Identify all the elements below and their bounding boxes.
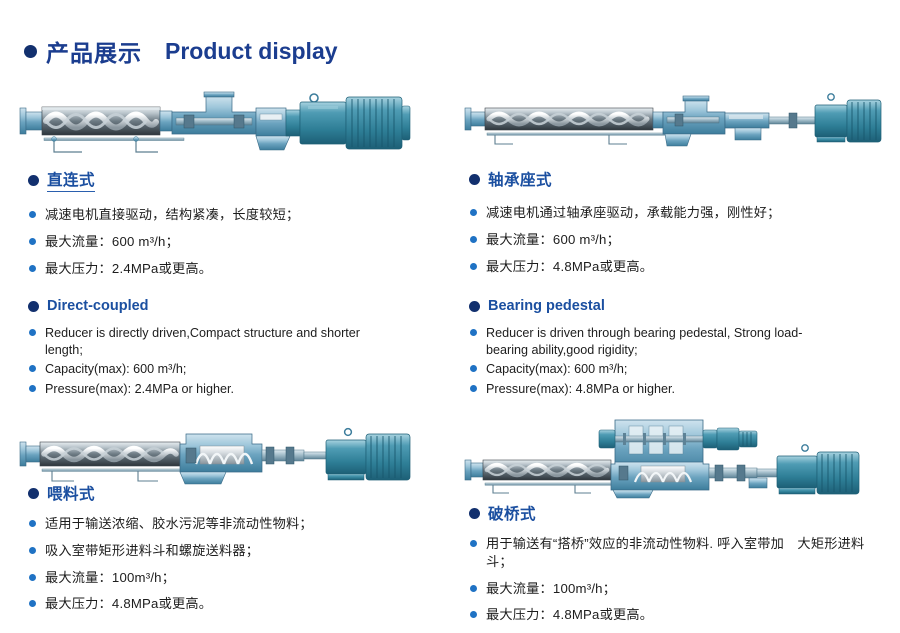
list-item: Reducer is driven through bearing pedest… — [469, 325, 809, 358]
heading-text: 直连式 — [47, 168, 95, 192]
list-item: 最大压力：4.8MPa或更高。 — [469, 606, 869, 624]
pump-image-bearing-pedestal — [463, 88, 883, 158]
left-column: 直连式 减速电机直接驱动，结构紧凑，长度较短； 最大流量：600 m³/h； 最… — [0, 0, 455, 624]
section-bearing-pedestal-en: Bearing pedestal Reducer is driven throu… — [469, 298, 809, 400]
feature-list-cn-bridge-breaker: 用于输送有“搭桥”效应的非流动性物料. 呼入室带加 大矩形进料斗； 最大流量：1… — [469, 535, 869, 624]
list-item: 最大流量：600 m³/h； — [28, 233, 299, 251]
bullet-circle-icon — [469, 174, 480, 185]
heading-text: Direct-coupled — [47, 298, 149, 314]
list-item: Reducer is directly driven,Compact struc… — [28, 325, 373, 358]
section-heading-en-direct-coupled: Direct-coupled — [28, 298, 373, 314]
feature-list-cn-feeding-type: 适用于输送浓缩、胶水污泥等非流动性物料； 吸入室带矩形进料斗和螺旋送料器； 最大… — [28, 515, 313, 613]
list-item: 减速电机直接驱动，结构紧凑，长度较短； — [28, 206, 299, 224]
list-item: 最大流量：100m³/h； — [469, 580, 869, 598]
heading-text: 喂料式 — [47, 482, 95, 504]
section-heading-cn-bridge-breaker: 破桥式 — [469, 502, 869, 524]
feature-list-en-bearing-pedestal: Reducer is driven through bearing pedest… — [469, 325, 809, 397]
list-item: Pressure(max): 2.4MPa or higher. — [28, 381, 373, 398]
bullet-circle-icon — [469, 301, 480, 312]
feature-list-en-direct-coupled: Reducer is directly driven,Compact struc… — [28, 325, 373, 397]
pump-image-bridge-breaker — [463, 410, 883, 502]
product-display-page: 产品展示 Product display — [0, 0, 900, 624]
bullet-circle-icon — [28, 301, 39, 312]
section-direct-coupled-en: Direct-coupled Reducer is directly drive… — [28, 298, 373, 400]
section-heading-en-bearing-pedestal: Bearing pedestal — [469, 298, 809, 314]
bullet-circle-icon — [469, 508, 480, 519]
list-item: 最大压力：4.8MPa或更高。 — [469, 258, 781, 276]
heading-text: 破桥式 — [488, 502, 536, 524]
list-item: 最大流量：100m³/h； — [28, 569, 313, 587]
section-bearing-pedestal: 轴承座式 减速电机通过轴承座驱动，承载能力强，刚性好； 最大流量：600 m³/… — [469, 168, 781, 284]
list-item: 最大流量：600 m³/h； — [469, 231, 781, 249]
section-feeding-type: 喂料式 适用于输送浓缩、胶水污泥等非流动性物料； 吸入室带矩形进料斗和螺旋送料器… — [28, 482, 313, 622]
section-heading-cn-bearing-pedestal: 轴承座式 — [469, 168, 781, 190]
heading-text: 轴承座式 — [488, 168, 552, 190]
list-item: 用于输送有“搭桥”效应的非流动性物料. 呼入室带加 大矩形进料斗； — [469, 535, 869, 571]
right-column: 轴承座式 减速电机通过轴承座驱动，承载能力强，刚性好； 最大流量：600 m³/… — [455, 0, 900, 624]
list-item: 吸入室带矩形进料斗和螺旋送料器； — [28, 542, 313, 560]
list-item: 适用于输送浓缩、胶水污泥等非流动性物料； — [28, 515, 313, 533]
heading-text: Bearing pedestal — [488, 298, 605, 314]
list-item: 最大压力：4.8MPa或更高。 — [28, 595, 313, 613]
feature-list-cn-direct-coupled: 减速电机直接驱动，结构紧凑，长度较短； 最大流量：600 m³/h； 最大压力：… — [28, 206, 299, 277]
list-item: Pressure(max): 4.8MPa or higher. — [469, 381, 809, 398]
list-item: Capacity(max): 600 m³/h; — [28, 361, 373, 378]
section-bridge-breaker: 破桥式 用于输送有“搭桥”效应的非流动性物料. 呼入室带加 大矩形进料斗； 最大… — [469, 502, 869, 633]
list-item: Capacity(max): 600 m³/h; — [469, 361, 809, 378]
bullet-circle-icon — [28, 175, 39, 186]
bullet-circle-icon — [28, 488, 39, 499]
list-item: 减速电机通过轴承座驱动，承载能力强，刚性好； — [469, 204, 781, 222]
pump-image-direct-coupled — [18, 82, 418, 164]
list-item: 最大压力：2.4MPa或更高。 — [28, 260, 299, 278]
section-direct-coupled: 直连式 减速电机直接驱动，结构紧凑，长度较短； 最大流量：600 m³/h； 最… — [28, 168, 299, 286]
feature-list-cn-bearing-pedestal: 减速电机通过轴承座驱动，承载能力强，刚性好； 最大流量：600 m³/h； 最大… — [469, 204, 781, 275]
section-heading-cn-direct-coupled: 直连式 — [28, 168, 299, 192]
section-heading-cn-feeding-type: 喂料式 — [28, 482, 313, 504]
